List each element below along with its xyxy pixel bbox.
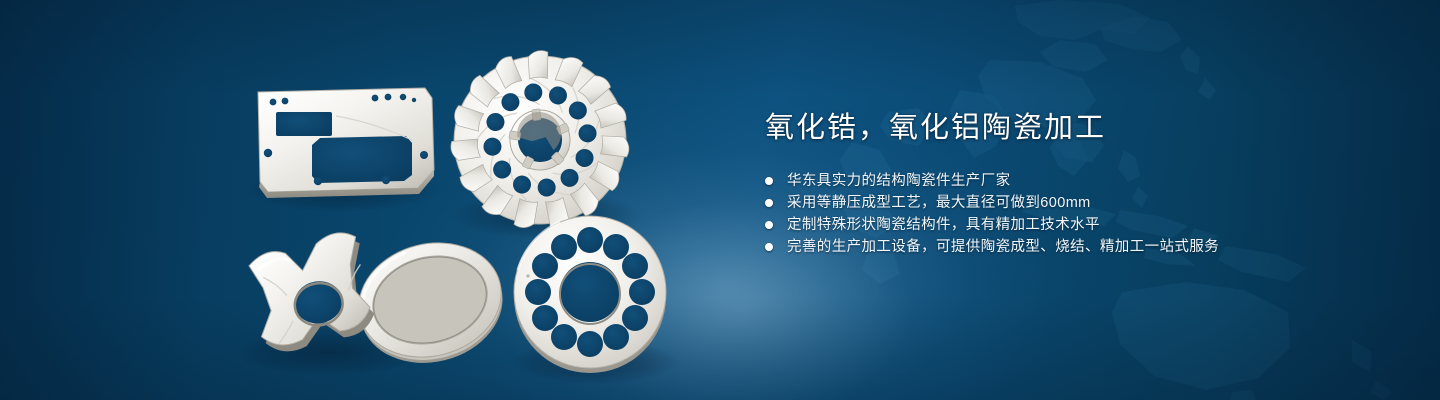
bullet-dot-icon bbox=[765, 221, 773, 229]
list-item: 完善的生产加工设备，可提供陶瓷成型、烧结、精加工一站式服务 bbox=[765, 236, 1385, 258]
banner-copy: 氧化锆，氧化铝陶瓷加工 华东具实力的结构陶瓷件生产厂家 采用等静压成型工艺，最大… bbox=[765, 108, 1385, 258]
bullet-dot-icon bbox=[765, 177, 773, 185]
bullet-dot-icon bbox=[765, 199, 773, 207]
banner-feature-list: 华东具实力的结构陶瓷件生产厂家 采用等静压成型工艺，最大直径可做到600mm 定… bbox=[765, 170, 1385, 258]
feature-text: 华东具实力的结构陶瓷件生产厂家 bbox=[787, 173, 1011, 189]
list-item: 华东具实力的结构陶瓷件生产厂家 bbox=[765, 170, 1385, 192]
feature-text: 定制特殊形状陶瓷结构件，具有精加工技术水平 bbox=[787, 217, 1100, 233]
feature-text: 完善的生产加工设备，可提供陶瓷成型、烧结、精加工一站式服务 bbox=[787, 239, 1219, 255]
banner-headline: 氧化锆，氧化铝陶瓷加工 bbox=[765, 108, 1385, 148]
bullet-dot-icon bbox=[765, 243, 773, 251]
feature-text: 采用等静压成型工艺，最大直径可做到600mm bbox=[787, 195, 1091, 211]
list-item: 定制特殊形状陶瓷结构件，具有精加工技术水平 bbox=[765, 214, 1385, 236]
promo-banner: 氧化锆，氧化铝陶瓷加工 华东具实力的结构陶瓷件生产厂家 采用等静压成型工艺，最大… bbox=[0, 0, 1440, 400]
list-item: 采用等静压成型工艺，最大直径可做到600mm bbox=[765, 192, 1385, 214]
